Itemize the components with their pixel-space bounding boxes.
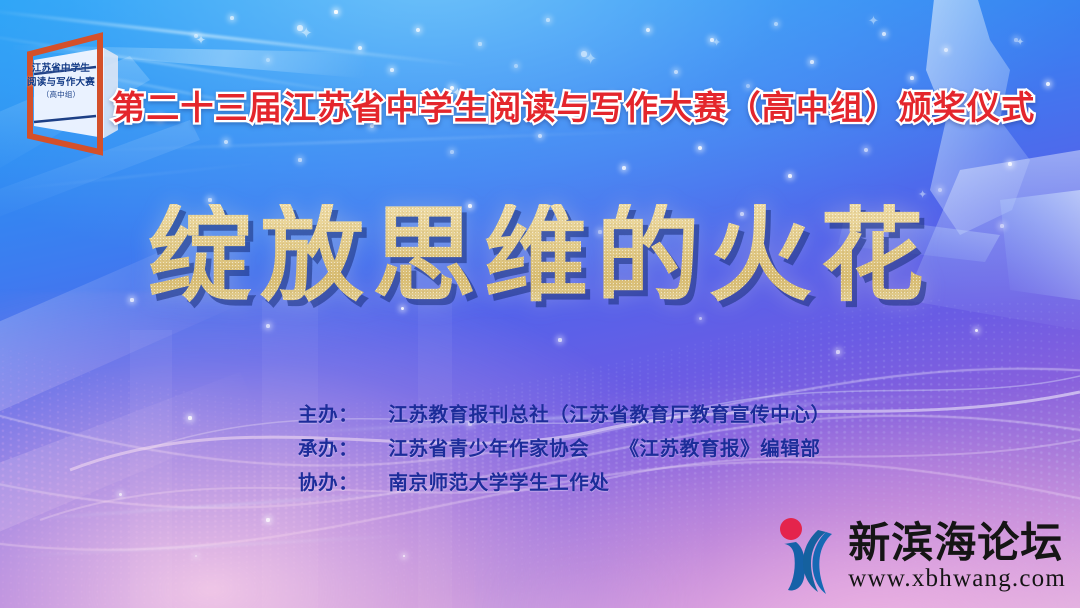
credit-value-secondary: 《江苏教育报》编辑部 bbox=[619, 438, 820, 460]
star-particle bbox=[910, 76, 914, 80]
sparkle-particle: ✦ bbox=[584, 52, 597, 68]
star-particle bbox=[699, 317, 702, 320]
star-particle bbox=[230, 16, 234, 20]
credit-label: 协办： bbox=[298, 472, 358, 494]
star-particle bbox=[698, 146, 702, 150]
star-particle bbox=[188, 416, 191, 419]
star-particle bbox=[1008, 162, 1012, 166]
poster-canvas: ✦✦✦✦✦✦✦✦✦✦ 江苏省中学生 阅读与写作大赛 （高中组） 第二十三届江苏省… bbox=[0, 0, 1080, 608]
credit-row-host: 承办： 江苏省青少年作家协会 《江苏教育报》编辑部 bbox=[298, 432, 831, 466]
person-swoosh-logo-icon bbox=[774, 514, 840, 598]
watermark-site-url: www.xbhwang.com bbox=[848, 566, 1066, 591]
credit-value: 江苏省青少年作家协会 bbox=[388, 438, 589, 460]
star-particle bbox=[558, 338, 561, 341]
star-particle bbox=[836, 350, 839, 353]
sparkle-particle: ✦ bbox=[868, 14, 879, 27]
star-particle bbox=[882, 32, 886, 36]
star-particle bbox=[334, 10, 337, 13]
headline: 绽放思维的火花 bbox=[0, 204, 1080, 308]
star-particle bbox=[224, 140, 228, 144]
credit-row-organizer: 主办： 江苏教育报刊总社（江苏省教育厅教育宣传中心） bbox=[298, 398, 831, 432]
star-particle bbox=[810, 60, 814, 64]
star-particle bbox=[622, 166, 626, 170]
watermark-text: 新滨海论坛 www.xbhwang.com bbox=[848, 522, 1066, 591]
sparkle-particle: ✦ bbox=[1016, 38, 1024, 48]
logo-caption-line1: 江苏省中学生 bbox=[22, 62, 100, 76]
star-particle bbox=[298, 158, 301, 161]
star-particle bbox=[119, 493, 122, 496]
star-particle bbox=[546, 18, 550, 22]
star-particle bbox=[266, 518, 269, 521]
credit-row-coorganizer: 协办： 南京师范大学学生工作处 bbox=[298, 466, 831, 500]
event-title: 第二十三届江苏省中学生阅读与写作大赛（高中组）颁奖仪式 bbox=[112, 81, 1035, 129]
credits-block: 主办： 江苏教育报刊总社（江苏省教育厅教育宣传中心） 承办： 江苏省青少年作家协… bbox=[298, 398, 831, 500]
credit-value: 南京师范大学学生工作处 bbox=[388, 472, 609, 494]
star-particle bbox=[266, 58, 270, 62]
watermark: 新滨海论坛 www.xbhwang.com bbox=[774, 514, 1066, 598]
star-particle bbox=[478, 42, 481, 45]
star-particle bbox=[266, 324, 270, 328]
sparkle-particle: ✦ bbox=[712, 38, 721, 49]
star-particle bbox=[938, 188, 942, 192]
sparkle-particle: ✦ bbox=[300, 26, 313, 41]
watermark-site-name: 新滨海论坛 bbox=[848, 522, 1066, 564]
star-particle bbox=[390, 68, 394, 72]
star-particle bbox=[416, 28, 420, 32]
logo-caption: 江苏省中学生 阅读与写作大赛 （高中组） bbox=[22, 62, 100, 100]
star-particle bbox=[450, 150, 454, 154]
credit-label: 承办： bbox=[298, 438, 358, 460]
star-particle bbox=[646, 28, 650, 32]
credit-label: 主办： bbox=[298, 404, 358, 426]
star-particle bbox=[975, 329, 978, 332]
logo-caption-line2: 阅读与写作大赛 bbox=[22, 76, 100, 90]
credit-value: 江苏教育报刊总社（江苏省教育厅教育宣传中心） bbox=[388, 404, 830, 426]
star-particle bbox=[788, 174, 792, 178]
logo-caption-line3: （高中组） bbox=[22, 90, 100, 101]
sparkle-particle: ✦ bbox=[196, 34, 206, 46]
